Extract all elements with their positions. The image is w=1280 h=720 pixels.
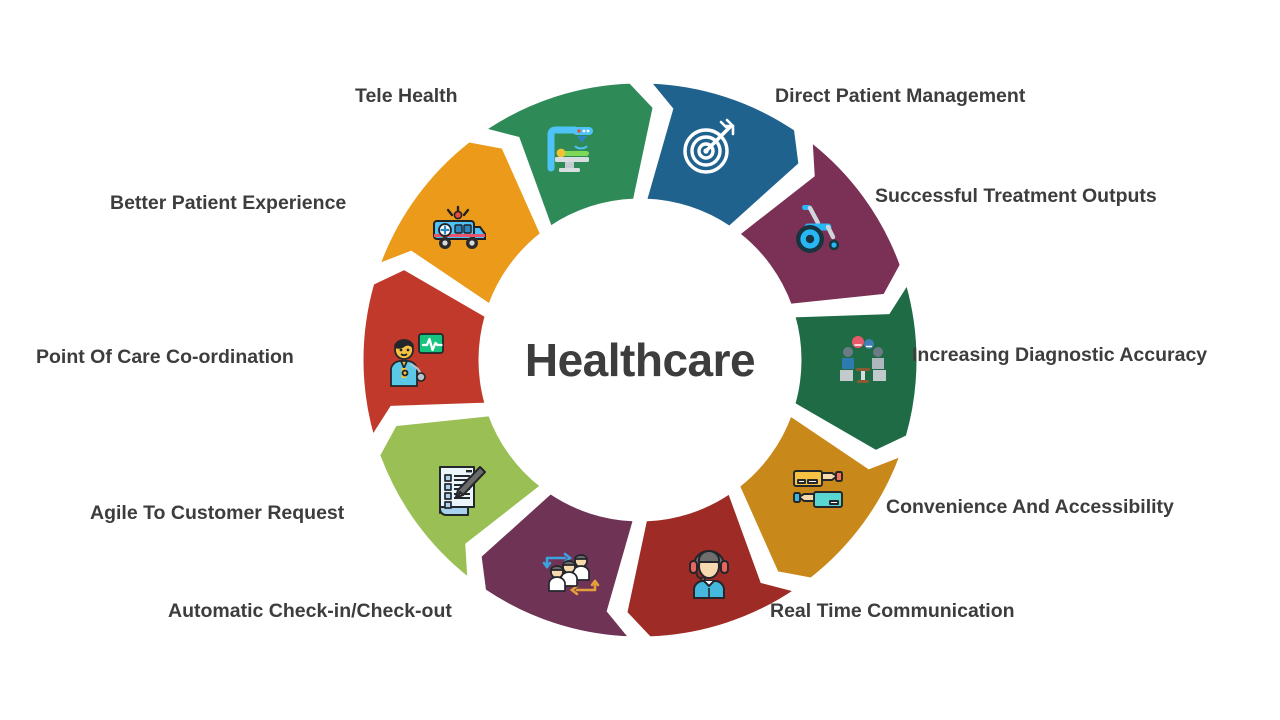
label-point-of-care-co-ordination: Point Of Care Co-ordination [36,347,294,368]
label-better-patient-experience: Better Patient Experience [110,193,346,214]
infographic-canvas: Healthcare Direct Patient ManagementSucc… [0,0,1280,720]
wheel-svg [360,80,920,640]
label-agile-to-customer-request: Agile To Customer Request [90,503,344,524]
circular-donut-chart [360,80,920,640]
label-increasing-diagnostic-accuracy: Increasing Diagnostic Accuracy [912,345,1207,366]
label-tele-health: Tele Health [355,86,458,107]
label-real-time-communication: Real Time Communication [770,601,1015,622]
label-automatic-check-in-check-out: Automatic Check-in/Check-out [168,601,452,622]
segment-real-time-communication[interactable] [794,283,918,451]
segment-tele-health[interactable] [362,269,486,437]
label-successful-treatment-outputs: Successful Treatment Outputs [875,186,1157,207]
segments-group [362,82,918,638]
label-direct-patient-management: Direct Patient Management [775,86,1025,107]
label-convenience-and-accessibility: Convenience And Accessibility [886,497,1174,518]
